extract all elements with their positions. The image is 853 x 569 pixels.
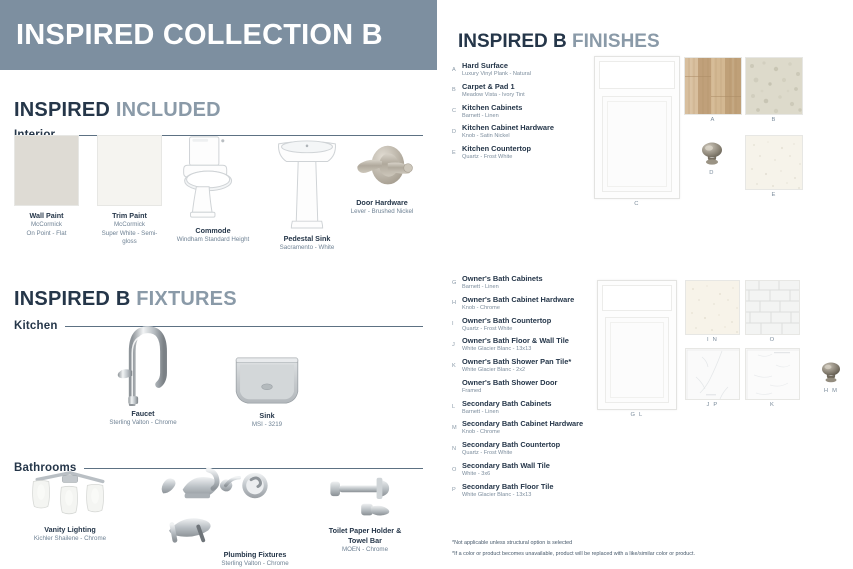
product-caption: Vanity Lighting Kichler Shailene - Chrom…	[20, 525, 120, 544]
swatch-label-k: K	[745, 402, 800, 408]
product-caption: Sink MSI - 3219	[228, 411, 306, 430]
paint-swatch-icon	[14, 135, 79, 206]
swatch-label-e: E	[745, 192, 803, 198]
product-sub1: Towel Bar	[309, 536, 421, 546]
legend-sub: Knob - Chrome	[462, 429, 637, 436]
page-title: INSPIRED COLLECTION B	[0, 21, 383, 50]
product-vanity-lighting: Vanity Lighting Kichler Shailene - Chrom…	[22, 468, 120, 544]
bath-cabinet-door-swatch: G L	[597, 280, 677, 418]
bath-countertop-swatch: I N	[685, 280, 740, 343]
door-lever-icon	[348, 140, 416, 196]
kitchen-countertop-swatch: E	[745, 135, 803, 198]
legend-letter: O	[452, 462, 462, 473]
footnote-1: *Not applicable unless structural option…	[452, 538, 852, 548]
legend-letter: L	[452, 400, 462, 411]
glacier-tile-swatch-image	[685, 348, 740, 400]
vanity-light-image	[22, 468, 118, 522]
product-caption: Commode Windham Standard Height	[170, 226, 256, 245]
legend-sub: White Glacier Blanc - 13x13	[462, 492, 637, 499]
header-bar: INSPIRED COLLECTION B	[0, 0, 437, 70]
product-caption: Door Hardware Lever - Brushed Nickel	[341, 198, 423, 217]
included-title-light: INCLUDED	[116, 99, 221, 121]
legend-name: Secondary Bath Countertop	[462, 441, 637, 450]
knob-image	[697, 140, 727, 168]
door-panel	[605, 317, 669, 403]
product-sub1: Kichler Shailene - Chrome	[34, 535, 106, 542]
quartz-texture	[686, 281, 740, 335]
swatch-label-a: A	[684, 117, 742, 123]
product-name: Sink	[228, 411, 306, 421]
product-caption: Plumbing Fixtures Sterling Valton - Chro…	[200, 550, 310, 569]
legend-name: Secondary Bath Floor Tile	[462, 483, 637, 492]
quartz-swatch-image	[745, 135, 803, 190]
kitchen-faucet-image	[112, 318, 174, 406]
legend-letter: E	[452, 145, 462, 156]
swatch-label-o: O	[745, 337, 800, 343]
product-towel-bar: Toilet Paper Holder & Towel Bar MOEN - C…	[325, 472, 421, 555]
kitchen-sink-icon	[232, 355, 302, 407]
legend-letter: K	[452, 358, 462, 369]
legend-sub: White - 3x6	[462, 471, 637, 478]
door-drawer	[599, 61, 675, 89]
footnote-2: *If a color or product becomes unavailab…	[452, 549, 852, 559]
mosaic-tile-swatch-image	[745, 348, 800, 400]
kitchen-label: Kitchen	[14, 320, 58, 332]
product-sub1: Lever - Brushed Nickel	[351, 208, 414, 215]
product-sub1: McCormick	[114, 221, 145, 228]
cabinet-knob-icon	[818, 360, 844, 386]
legend-item: P Secondary Bath Floor Tile White Glacie…	[452, 483, 637, 499]
product-caption: Toilet Paper Holder & Towel Bar MOEN - C…	[309, 526, 421, 555]
legend-letter: C	[452, 104, 462, 115]
legend-letter: P	[452, 483, 462, 494]
pedestal-sink-icon	[272, 138, 342, 230]
legend-letter: A	[452, 62, 462, 73]
product-caption: Trim Paint McCormick Super White - Semi-…	[97, 211, 162, 246]
legend-name: Secondary Bath Cabinet Hardware	[462, 420, 637, 429]
product-name: Pedestal Sink	[264, 234, 350, 244]
product-sub2: MOEN - Chrome	[342, 546, 388, 553]
product-commode: Commode Windham Standard Height	[176, 132, 256, 245]
swatch-label-gl: G L	[597, 412, 677, 418]
towel-bar-image	[325, 472, 407, 524]
product-sub1: Windham Standard Height	[177, 236, 250, 243]
hard-surface-swatch: A	[684, 57, 742, 123]
included-section-title: INSPIRED INCLUDED	[14, 100, 221, 120]
subway-tile-texture	[746, 281, 800, 335]
product-faucet: Faucet Sterling Valton - Chrome	[112, 318, 188, 428]
bath-knob-swatch: H M	[818, 360, 844, 394]
legend-letter: D	[452, 124, 462, 135]
legend-letter: M	[452, 420, 462, 431]
legend-item: M Secondary Bath Cabinet Hardware Knob -…	[452, 420, 637, 436]
shower-pan-tile-swatch: K	[745, 348, 800, 408]
kitchen-subheading: Kitchen	[14, 320, 423, 332]
cabinet-door-image	[594, 56, 680, 199]
paint-swatch-icon	[97, 135, 162, 206]
marble-tile-texture	[686, 349, 740, 400]
door-drawer	[602, 285, 672, 311]
legend-item: N Secondary Bath Countertop Quartz - Fro…	[452, 441, 637, 457]
product-sub1: Sterling Valton - Chrome	[221, 560, 288, 567]
collection-sheet: INSPIRED COLLECTION B INSPIRED INCLUDED …	[0, 0, 853, 569]
toilet-image	[176, 132, 251, 222]
swatch-label-b: B	[745, 117, 803, 123]
wood-plank-texture	[685, 58, 742, 115]
secondary-bath-wall-tile-swatch: O	[745, 280, 800, 343]
kitchen-knob-swatch: D	[697, 140, 727, 176]
swatch-label-c: C	[594, 201, 680, 207]
carpet-texture	[746, 58, 803, 115]
finishes-title-light: FINISHES	[572, 31, 660, 52]
product-sink: Sink MSI - 3219	[232, 355, 306, 430]
kitchen-sink-image	[232, 355, 302, 407]
plumbing-fixtures-image	[148, 466, 276, 550]
kitchen-faucet-icon	[112, 318, 174, 406]
product-name: Toilet Paper Holder &	[309, 526, 421, 536]
door-lever-image	[348, 140, 416, 196]
legend-letter: H	[452, 296, 462, 307]
swatch-label-in: I N	[685, 337, 740, 343]
legend-name: Secondary Bath Wall Tile	[462, 462, 637, 471]
product-plumbing-fixtures: Plumbing Fixtures Sterling Valton - Chro…	[148, 466, 310, 569]
door-panel	[602, 96, 672, 192]
fixtures-title-bold: INSPIRED B	[14, 288, 130, 310]
toilet-icon	[176, 132, 251, 222]
legend-letter: I	[452, 317, 462, 328]
carpet-swatch: B	[745, 57, 803, 123]
product-sub1: MSI - 3219	[252, 421, 282, 428]
product-caption: Wall Paint McCormick On Point - Flat	[14, 211, 79, 238]
product-name: Wall Paint	[14, 211, 79, 221]
legend-letter: J	[452, 337, 462, 348]
swatch-label-hm: H M	[818, 388, 844, 394]
legend-letter: G	[452, 275, 462, 286]
product-name: Faucet	[98, 409, 188, 419]
product-name: Door Hardware	[341, 198, 423, 208]
product-sub1: Sterling Valton - Chrome	[109, 419, 176, 426]
product-caption: Faucet Sterling Valton - Chrome	[98, 409, 188, 428]
kitchen-cabinet-door-swatch: C	[594, 56, 680, 207]
product-caption: Pedestal Sink Sacramento - White	[264, 234, 350, 253]
quartz-texture	[746, 136, 803, 190]
product-name: Plumbing Fixtures	[200, 550, 310, 560]
carpet-swatch-image	[745, 57, 803, 115]
quartz-swatch-image	[685, 280, 740, 335]
legend-letter: B	[452, 83, 462, 94]
product-name: Trim Paint	[97, 211, 162, 221]
subway-tile-swatch-image	[745, 280, 800, 335]
product-sub2: Super White - Semi-gloss	[102, 230, 158, 245]
lvp-swatch-image	[684, 57, 742, 115]
cabinet-knob-icon	[697, 140, 727, 168]
fixtures-title-light: FIXTURES	[136, 288, 237, 310]
legend-item: O Secondary Bath Wall Tile White - 3x6	[452, 462, 637, 478]
product-pedestal-sink: Pedestal Sink Sacramento - White	[272, 138, 350, 253]
product-sub1: McCormick	[31, 221, 62, 228]
pedestal-sink-image	[272, 138, 342, 230]
swatch-label-jp: J P	[685, 402, 740, 408]
towel-bar-icon	[325, 472, 407, 524]
product-trim-paint: Trim Paint McCormick Super White - Semi-…	[97, 135, 162, 246]
mosaic-texture	[746, 349, 800, 400]
bath-floor-wall-tile-swatch: J P	[685, 348, 740, 408]
product-sub1: Sacramento - White	[280, 244, 335, 251]
legend-sub: Quartz - Frost White	[462, 450, 637, 457]
finishes-section-title: INSPIRED B FINISHES	[458, 32, 660, 51]
finishes-title-bold: INSPIRED B	[458, 31, 567, 52]
fixtures-section-title: INSPIRED B FIXTURES	[14, 289, 237, 309]
cabinet-door-image	[597, 280, 677, 410]
product-name: Commode	[170, 226, 256, 236]
product-wall-paint: Wall Paint McCormick On Point - Flat	[14, 135, 79, 238]
legend-letter	[452, 379, 462, 384]
swatch-label-d: D	[697, 170, 727, 176]
vanity-light-icon	[22, 468, 118, 522]
legend-letter: N	[452, 441, 462, 452]
knob-image	[818, 360, 844, 386]
included-title-bold: INSPIRED	[14, 99, 110, 121]
product-name: Vanity Lighting	[20, 525, 120, 535]
plumbing-fixtures-icon	[148, 466, 276, 550]
product-sub2: On Point - Flat	[27, 230, 67, 237]
footnotes: *Not applicable unless structural option…	[452, 538, 852, 559]
product-door-hardware: Door Hardware Lever - Brushed Nickel	[348, 140, 423, 217]
